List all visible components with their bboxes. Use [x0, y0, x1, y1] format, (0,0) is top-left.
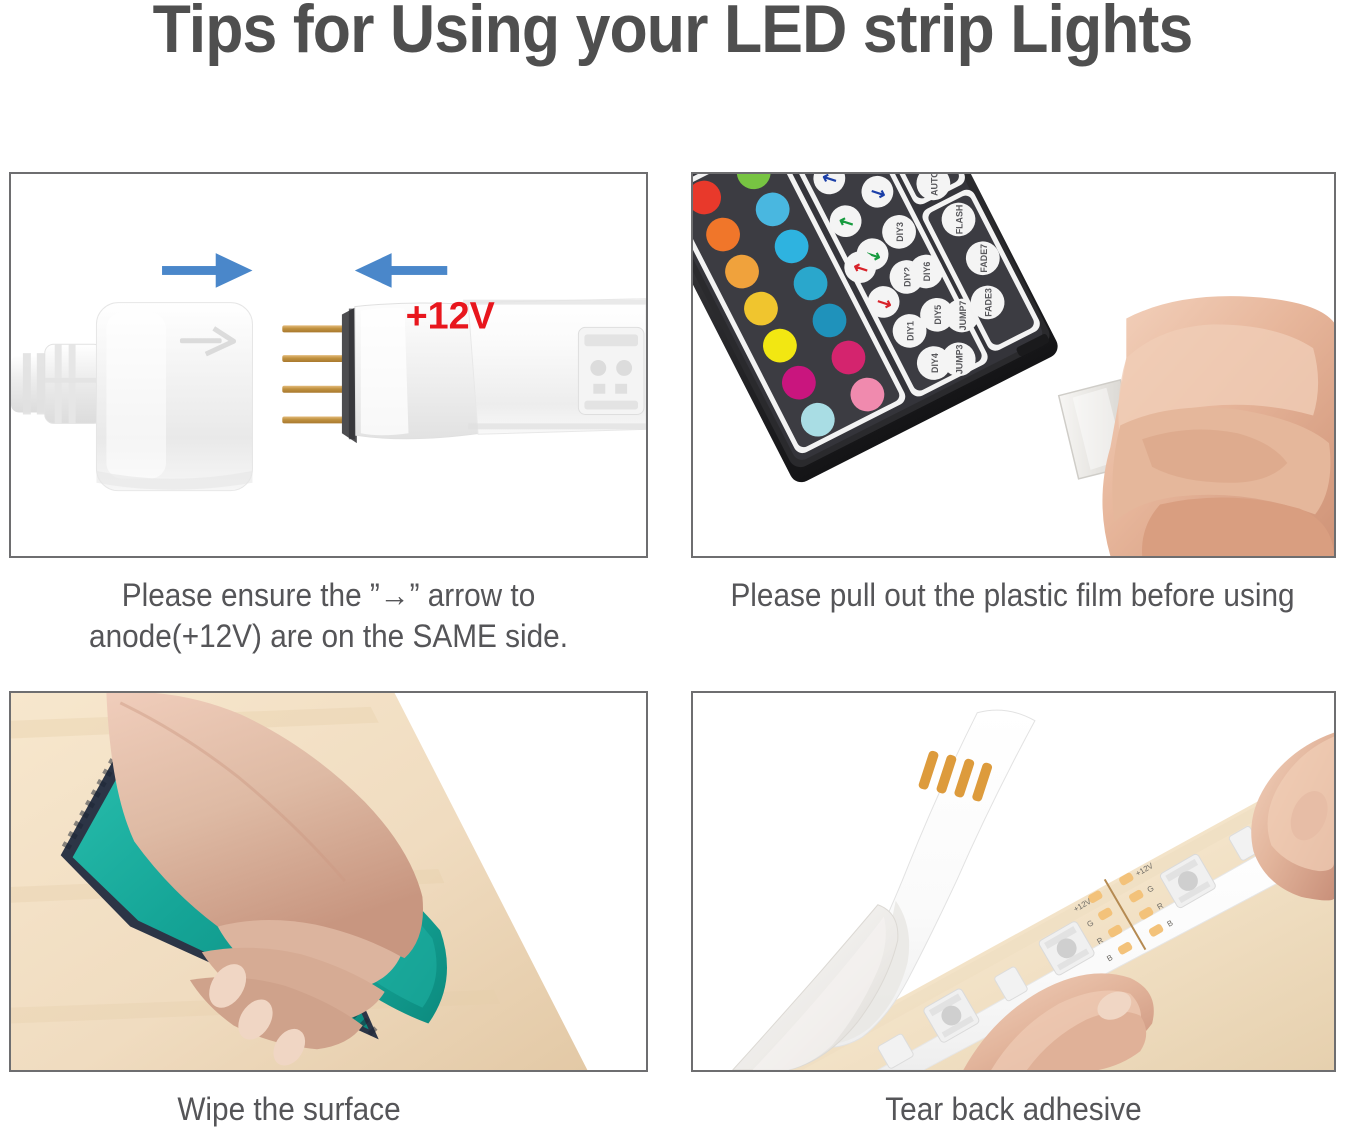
svg-text:JUMP7: JUMP7 — [958, 301, 968, 331]
page-title: Tips for Using your LED strip Lights — [54, 0, 1291, 65]
hand-pulling-film — [1102, 296, 1334, 556]
caption-tear-adhesive: Tear back adhesive — [714, 1089, 1314, 1130]
tear-adhesive-illustration: +12V G R B +12V G R B — [693, 693, 1334, 1070]
svg-text:FADE3: FADE3 — [984, 288, 994, 317]
svg-text:AUTO: AUTO — [929, 174, 939, 196]
connector-alignment-illustration: +12V — [11, 174, 646, 556]
wipe-surface-illustration — [11, 693, 646, 1070]
caption-connector-alignment: Please ensure the ”→” arrow to anode(+12… — [31, 575, 625, 657]
led-chip — [578, 327, 644, 414]
panel-tear-adhesive: +12V G R B +12V G R B — [691, 691, 1336, 1072]
panel-wipe-surface — [9, 691, 648, 1072]
panel-connector-alignment: +12V — [9, 172, 648, 558]
svg-text:DIY6: DIY6 — [922, 262, 932, 282]
cable-strain-relief — [45, 344, 103, 423]
voltage-label: +12V — [406, 294, 495, 336]
svg-text:JUMP3: JUMP3 — [955, 344, 965, 374]
svg-text:DIY5: DIY5 — [933, 305, 943, 325]
svg-text:FADE7: FADE7 — [979, 244, 989, 273]
svg-text:FLASH: FLASH — [954, 205, 964, 235]
panel-remote-film: ↖ ↘ ↖ ↘ ↖ ↘ DIY3 DIY2 DIY6 DIY1 DIY5 DIY… — [691, 172, 1336, 558]
svg-text:DIY1: DIY1 — [906, 321, 916, 341]
caption-wipe-surface: Wipe the surface — [29, 1089, 550, 1130]
caption-remote-film: Please pull out the plastic film before … — [703, 575, 1321, 616]
svg-text:DIY4: DIY4 — [930, 353, 940, 373]
remote-film-illustration: ↖ ↘ ↖ ↘ ↖ ↘ DIY3 DIY2 DIY6 DIY1 DIY5 DIY… — [693, 174, 1334, 556]
svg-text:DIY3: DIY3 — [895, 222, 905, 242]
connector-plug — [96, 303, 252, 491]
